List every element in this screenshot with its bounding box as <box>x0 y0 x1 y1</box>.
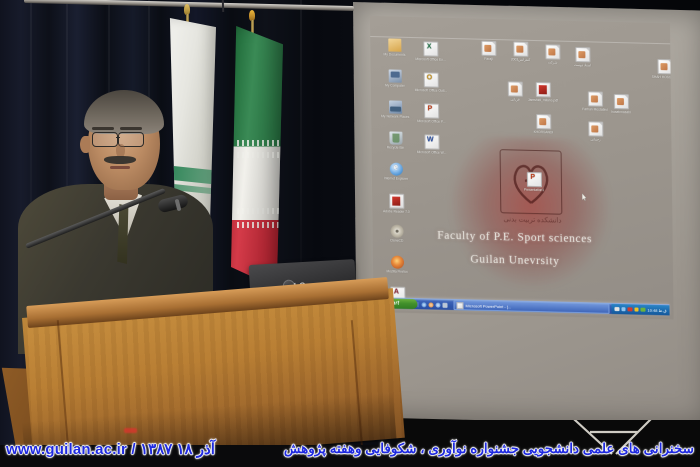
document-icon <box>513 41 528 56</box>
desktop-icon-ms-powerpoint-icon[interactable]: Microsoft Office P... <box>409 103 453 124</box>
clonecd-icon <box>390 225 403 238</box>
desktop-icon-adobe-reader-icon[interactable]: Adobe Reader 7.0 <box>374 193 418 214</box>
my-computer-icon <box>388 69 401 82</box>
desktop-icon-label: Internet Explorer <box>384 176 408 181</box>
powerpoint-doc-icon <box>526 172 541 187</box>
taskbar-window-label: Microsoft PowerPoint - [... <box>465 303 511 309</box>
desktop-icon-document-icon[interactable]: hoseinnasabi <box>599 94 643 115</box>
desktop-icon-label: My Computer <box>385 83 405 87</box>
desktop-icon-ms-word-icon[interactable]: Microsoft Office W... <box>409 134 453 155</box>
quick-launch-desktop-icon[interactable] <box>442 302 447 307</box>
internet-explorer-icon <box>389 162 402 175</box>
desktop-icon-label: کنفرانس2003 <box>511 57 530 61</box>
ms-word-icon <box>424 134 439 149</box>
desktop-icon-label: رحمانی <box>590 137 600 141</box>
tray-icon-language[interactable] <box>641 307 646 312</box>
desktop-icon-label: KHORSANDI <box>534 130 554 134</box>
system-tray[interactable]: 10:48 ق.ظ <box>612 304 670 315</box>
document-icon <box>657 59 672 74</box>
eyeglasses-left-lens <box>92 132 118 147</box>
document-icon <box>575 47 590 62</box>
eyeglasses-bridge <box>116 137 120 138</box>
desktop-icon-label: CloneCD <box>390 239 403 243</box>
desktop-icon-ms-outlook-icon[interactable]: Microsoft Office Outl... <box>409 72 453 93</box>
desktop-icon-document-icon[interactable]: استاد دوست <box>560 47 604 68</box>
tray-icon-network[interactable] <box>621 307 626 312</box>
desktop-icon-label: Microsoft Office Outl... <box>415 88 448 93</box>
speaker-mustache <box>104 156 136 164</box>
desktop-icon-label: Recycle Bin <box>387 145 404 149</box>
desktop-icon-acrobat-doc-icon[interactable]: Jamshidi_milano.pdf <box>521 82 565 103</box>
desktop-icon-label: Presentation1 <box>524 188 544 192</box>
projected-windows-desktop: دانشکده تربیت بدنی Faculty of P.E. Sport… <box>370 16 674 319</box>
ms-powerpoint-icon <box>424 103 439 118</box>
desktop-icon-internet-explorer-icon[interactable]: Internet Explorer <box>374 162 418 181</box>
desktop-icon-firefox-icon[interactable]: Mozilla Firefox <box>375 255 419 274</box>
tray-icon-update[interactable] <box>634 307 639 312</box>
desktop-icon-document-icon[interactable]: رحمانی <box>573 121 617 142</box>
screen-pull-rod <box>222 0 224 12</box>
tray-icon-antivirus[interactable] <box>628 307 633 312</box>
firefox-icon <box>390 256 403 269</box>
quick-launch-firefox-icon[interactable] <box>428 302 433 307</box>
photograph: دانشکده تربیت بدنی Faculty of P.E. Sport… <box>0 0 700 467</box>
desktop-icon-label: Microsoft Office Ex... <box>415 57 445 62</box>
desktop-icon-layer[interactable]: My DocumentsMy ComputerMy Network Places… <box>370 16 674 319</box>
website-and-date-label: www.guilan.ac.ir / ۱۳۸۷ آذر ۱۸ <box>6 440 215 458</box>
caption-left: www.guilan.ac.ir / ۱۳۸۷ آذر ۱۸ <box>6 431 215 467</box>
desktop-icon-label: hoseinnasabi <box>611 110 630 114</box>
desktop-icon-label: My Documents <box>383 52 405 57</box>
speaker-eyebrow-right <box>120 127 142 130</box>
mouse-cursor-icon <box>582 193 587 201</box>
speaker-ear <box>80 136 90 153</box>
desktop-icon-label: SHAH HOSSAINI <box>652 75 674 80</box>
desktop-icon-label: Mozilla Firefox <box>386 269 407 274</box>
document-icon <box>613 94 628 109</box>
quick-launch-bar[interactable] <box>417 302 450 308</box>
desktop-icon-document-icon[interactable]: KHORSANDI <box>521 114 565 135</box>
acrobat-doc-icon <box>535 82 550 97</box>
speaker-eyebrow-left <box>92 127 114 130</box>
document-icon <box>536 114 551 129</box>
desktop-icon-label: Faraji <box>484 57 492 61</box>
quick-launch-ie-icon[interactable] <box>421 302 426 307</box>
document-icon <box>481 41 496 56</box>
event-title-label: سخنرانی های علمی دانشجویی جشنواره نوآوری… <box>284 441 694 457</box>
desktop-icon-label: Jamshidi_milano.pdf <box>528 98 558 103</box>
desktop-icon-label: شرکت <box>548 60 557 64</box>
desktop-icon-label: استاد دوست <box>574 63 591 67</box>
iran-flag <box>231 26 283 288</box>
desktop-icon-label: قربانی <box>510 97 519 101</box>
desktop-icon-powerpoint-doc-icon[interactable]: Presentation1 <box>512 171 556 192</box>
desktop-icon-label: Adobe Reader 7.0 <box>383 209 410 214</box>
powerpoint-window-icon <box>456 302 463 309</box>
flag-shading <box>231 26 283 288</box>
caption-right: سخنرانی های علمی دانشجویی جشنواره نوآوری… <box>284 431 694 467</box>
recycle-bin-icon <box>389 131 402 144</box>
tray-clock[interactable]: 10:48 ق.ظ <box>647 307 666 312</box>
tray-icon-volume[interactable] <box>615 307 620 312</box>
speaker-mouth <box>110 166 130 169</box>
desktop-icon-label: My Network Places <box>381 114 409 119</box>
document-icon <box>545 44 560 59</box>
desktop-icon-label: Microsoft Office W... <box>417 150 446 155</box>
quick-launch-media-icon[interactable] <box>435 302 440 307</box>
document-icon <box>588 121 603 136</box>
desktop-icon-label: Microsoft Office P... <box>417 119 445 124</box>
adobe-reader-icon <box>389 193 404 208</box>
ms-outlook-icon <box>423 72 438 87</box>
my-network-places-icon <box>389 100 402 113</box>
ms-excel-icon <box>423 41 438 56</box>
desktop-icon-document-icon[interactable]: SHAH HOSSAINI <box>642 59 673 80</box>
my-documents-icon <box>388 38 401 51</box>
desktop-icon-ms-excel-icon[interactable]: Microsoft Office Ex... <box>408 41 452 62</box>
desktop-icon-clonecd-icon[interactable]: CloneCD <box>375 224 419 243</box>
